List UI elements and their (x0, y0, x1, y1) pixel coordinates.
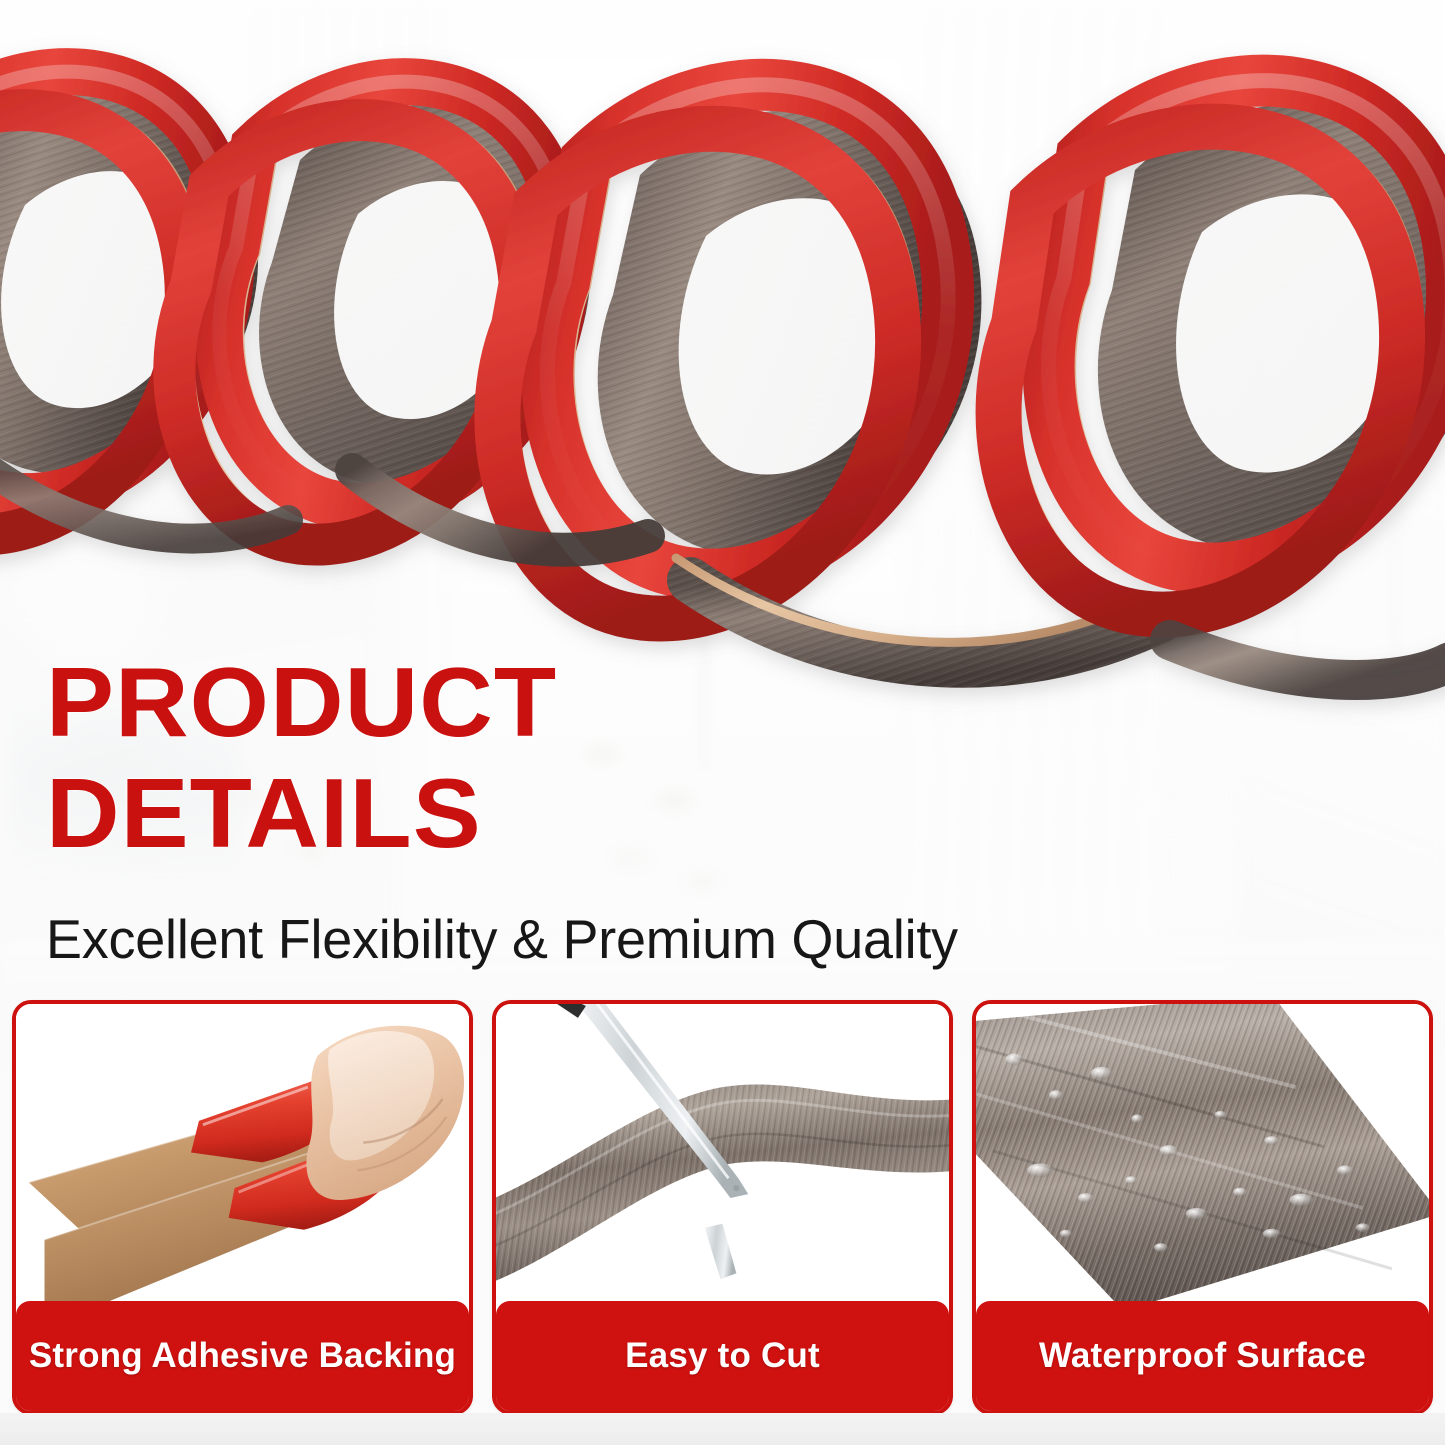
footer-strip (0, 1413, 1445, 1445)
page-title-line-1: PRODUCT (46, 655, 557, 750)
page-title: PRODUCT DETAILS (46, 655, 538, 861)
feature-caption-waterproof: Waterproof Surface (976, 1301, 1429, 1411)
tape-coil-4 (999, 81, 1445, 615)
scissors-pivot (733, 1185, 739, 1191)
product-detail-image: PRODUCT DETAILS Excellent Flexibility & … (0, 0, 1445, 1445)
page-title-line-2: DETAILS (46, 766, 557, 861)
feature-image-cut (496, 1004, 949, 1301)
tape-tail (1170, 640, 1445, 680)
feature-panel-adhesive: Strong Adhesive Backing (12, 1000, 473, 1415)
feature-panels: Strong Adhesive Backing (0, 1000, 1445, 1415)
feature-caption-cut: Easy to Cut (496, 1301, 949, 1411)
feature-panel-cut: Easy to Cut (492, 1000, 953, 1415)
feature-image-adhesive (16, 1004, 469, 1301)
page-subtitle: Excellent Flexibility & Premium Quality (46, 907, 958, 971)
feature-panel-waterproof: Waterproof Surface (972, 1000, 1433, 1415)
feature-caption-adhesive: Strong Adhesive Backing (16, 1301, 469, 1411)
feature-image-waterproof (976, 1004, 1429, 1301)
hero-product-coils (0, 0, 1445, 700)
